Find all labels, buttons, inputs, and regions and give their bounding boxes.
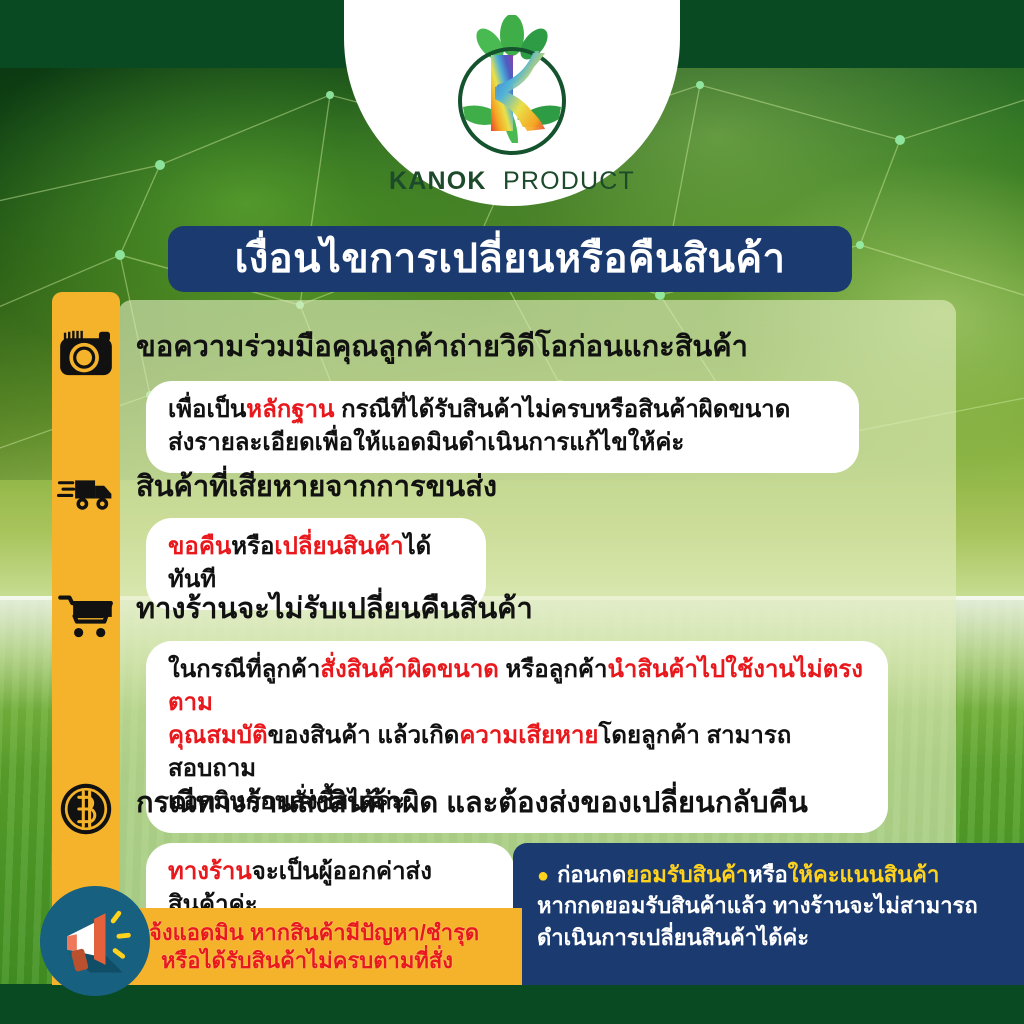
megaphone-icon [40,886,150,996]
note-line: ดำเนินการเปลี่ยนสินค้าได้ค่ะ [537,922,1006,953]
section-bubble-1: เพื่อเป็นหลักฐาน กรณีที่ได้รับสินค้าไม่ค… [146,381,859,473]
acceptance-note-panel: ●ก่อนกดยอมรับสินค้าหรือให้คะแนนสินค้า หา… [513,843,1024,985]
page-title: เงื่อนไขการเปลี่ยนหรือคืนสินค้า [235,239,786,279]
note-line: ●ก่อนกดยอมรับสินค้าหรือให้คะแนนสินค้า [537,859,1006,890]
contact-admin-line-1: แจ้งแอดมิน หากสินค้ามีปัญหา/ชำรุด [135,919,479,947]
camera-icon [52,322,120,384]
brand-logo-badge: KANOK PRODUCT [344,0,680,206]
bubble-line: ขอคืนหรือเปลี่ยนสินค้าได้ทันที [168,530,464,596]
section-heading-1: ขอความร่วมมือคุณลูกค้าถ่ายวิดีโอก่อนแกะส… [136,333,748,362]
brand-name-bold: KANOK [389,167,487,195]
brand-name: KANOK PRODUCT [389,167,635,196]
bullet-icon: ● [537,865,549,887]
bubble-line: เพื่อเป็นหลักฐาน กรณีที่ได้รับสินค้าไม่ค… [168,393,837,426]
kanok-leaf-k-logo-icon [437,15,587,163]
section-heading-2: สินค้าที่เสียหายจากการขนส่ง [136,473,497,502]
delivery-truck-icon [52,462,120,524]
page-title-banner: เงื่อนไขการเปลี่ยนหรือคืนสินค้า [168,226,852,292]
bubble-line: ส่งรายละเอียดเพื่อให้แอดมินดำเนินการแก้ไ… [168,426,837,459]
contact-admin-line-2: หรือได้รับสินค้าไม่ครบตามที่สั่ง [161,947,453,975]
section-heading-4: กรณีทางร้านส่งสินค้าผิด และต้องส่งของเปล… [136,789,808,818]
infographic-canvas: KANOK PRODUCT เงื่อนไขการเปลี่ยนหรือคืนส… [0,0,1024,1024]
brand-name-light: PRODUCT [503,167,635,195]
note-line: หากกดยอมรับสินค้าแล้ว ทางร้านจะไม่สามารถ [537,890,1006,921]
bottom-band [0,984,1024,1024]
section-heading-3: ทางร้านจะไม่รับเปลี่ยนคืนสินค้า [136,595,533,624]
bubble-line: คุณสมบัติของสินค้า แล้วเกิดความเสียหายโด… [168,719,866,785]
shopping-cart-icon [52,585,120,647]
contact-admin-strip: แจ้งแอดมิน หากสินค้ามีปัญหา/ชำรุด หรือได… [92,908,522,985]
bubble-line: ในกรณีที่ลูกค้าสั่งสินค้าผิดขนาด หรือลูก… [168,653,866,719]
baht-coin-icon [52,778,120,840]
